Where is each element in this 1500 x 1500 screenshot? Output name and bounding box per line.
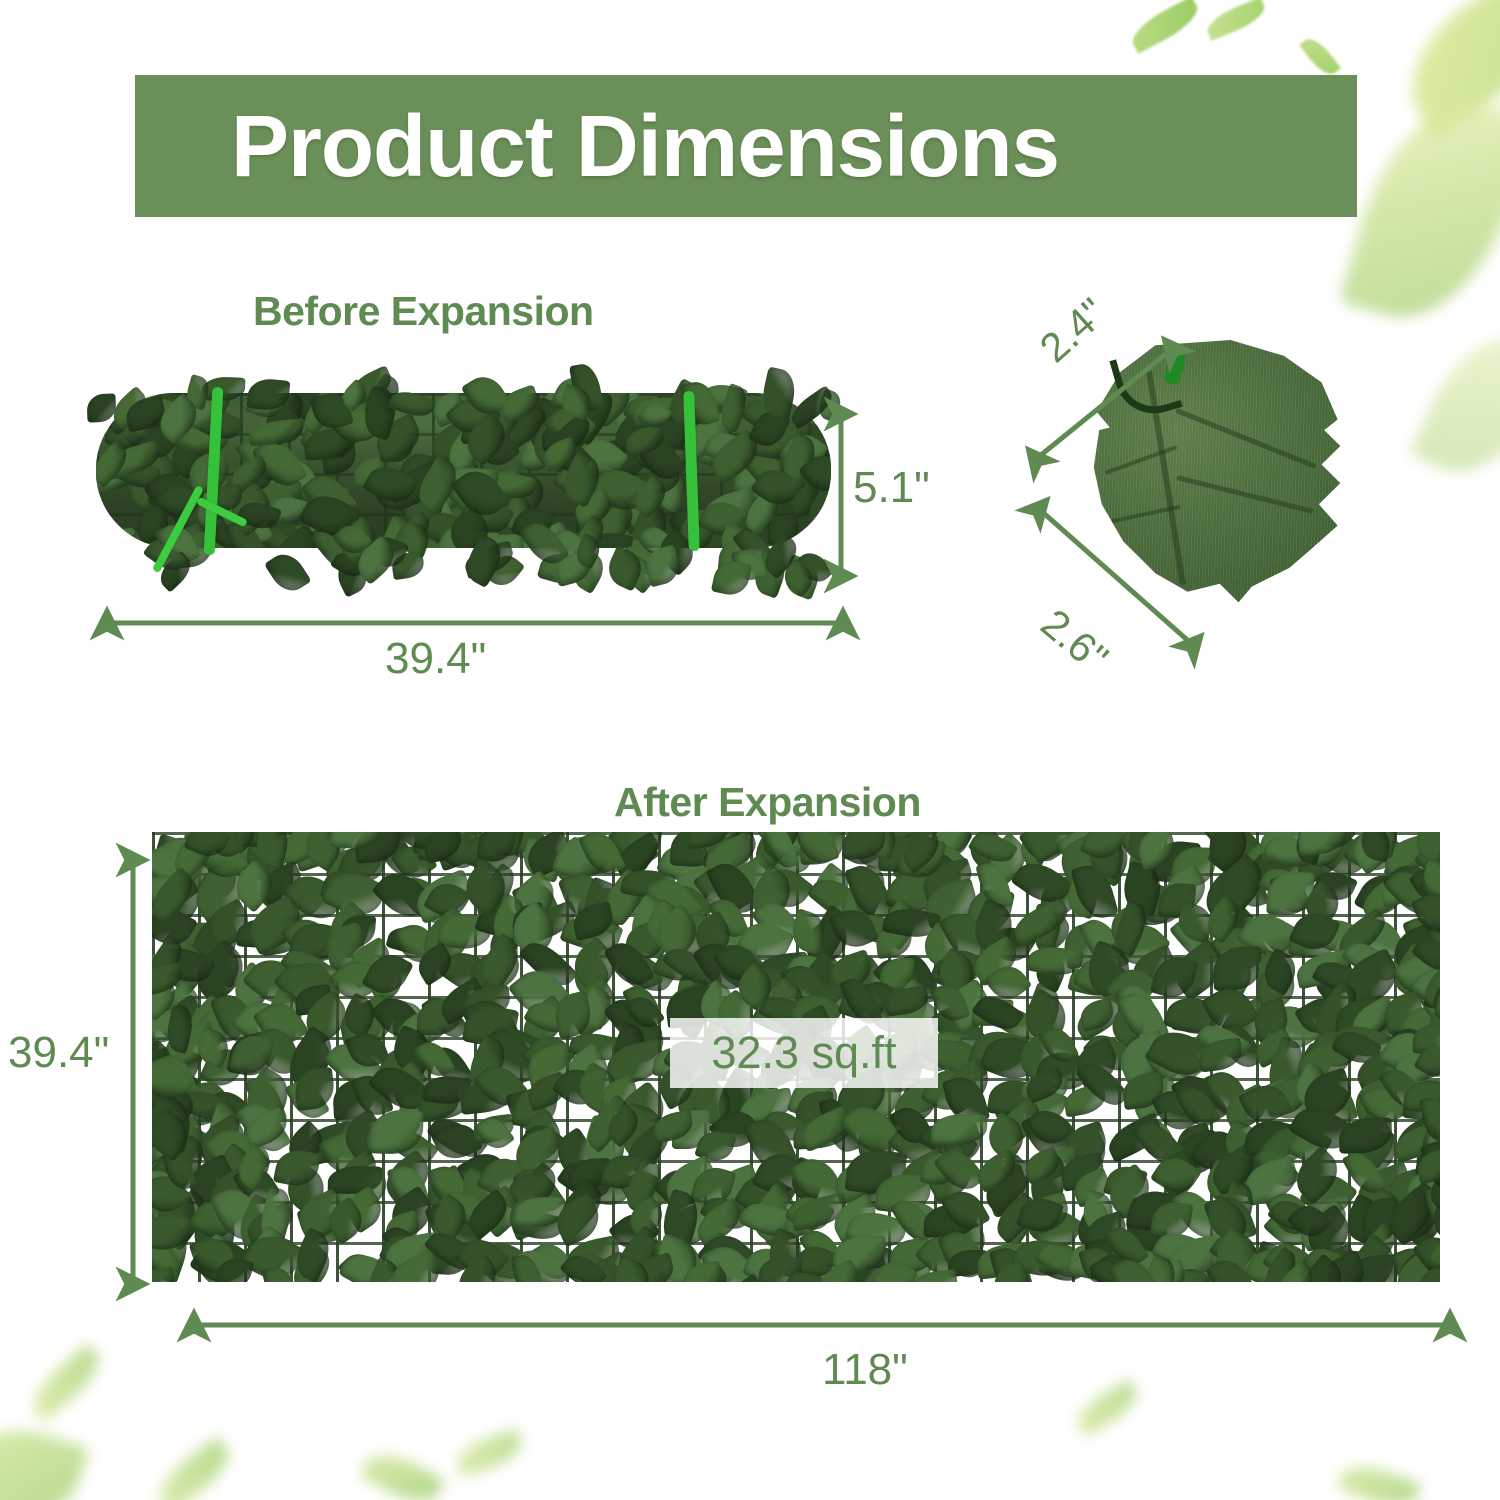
decorative-leaf-icon bbox=[1203, 0, 1269, 41]
area-badge-label: 32.3 sq.ft bbox=[711, 1027, 896, 1079]
dimension-label-width-after: 118" bbox=[822, 1345, 908, 1395]
decorative-leaf-icon bbox=[452, 1428, 526, 1478]
decorative-leaf-icon bbox=[1337, 1458, 1421, 1500]
leaf-dimension-arrow-upper bbox=[1020, 335, 1190, 475]
decorative-leaf-icon bbox=[1299, 33, 1341, 79]
decorative-leaf-icon bbox=[359, 1444, 445, 1500]
infographic-canvas: Product Dimensions Before Expansion 5.1" bbox=[0, 0, 1500, 1500]
height-dimension-arrow-after bbox=[116, 846, 152, 1298]
dimension-label-height-after: 39.4" bbox=[8, 1028, 109, 1078]
decorative-leaf-icon bbox=[1126, 0, 1204, 54]
dimension-label-length-before: 39.4" bbox=[385, 634, 486, 684]
decorative-leaf-icon bbox=[150, 1437, 238, 1500]
foliage-leaf bbox=[264, 547, 311, 597]
decorative-leaf-icon bbox=[0, 1412, 89, 1500]
decorative-leaf-icon bbox=[1410, 317, 1500, 493]
area-badge: 32.3 sq.ft bbox=[670, 1018, 938, 1088]
section-heading-after: After Expansion bbox=[614, 779, 921, 826]
foliage-leaf bbox=[711, 557, 752, 597]
section-heading-before: Before Expansion bbox=[253, 288, 594, 335]
dimension-label-height-before: 5.1" bbox=[853, 463, 930, 513]
decorative-leaf-icon bbox=[24, 1344, 109, 1423]
rolled-product-image bbox=[78, 365, 848, 585]
decorative-leaf-icon bbox=[1071, 1379, 1144, 1437]
page-title: Product Dimensions bbox=[135, 103, 1059, 190]
title-banner: Product Dimensions bbox=[135, 75, 1357, 217]
decorative-leaf-icon bbox=[1384, 0, 1500, 138]
width-dimension-arrow-after bbox=[180, 1308, 1465, 1344]
decorative-leaf-icon bbox=[1339, 80, 1500, 339]
